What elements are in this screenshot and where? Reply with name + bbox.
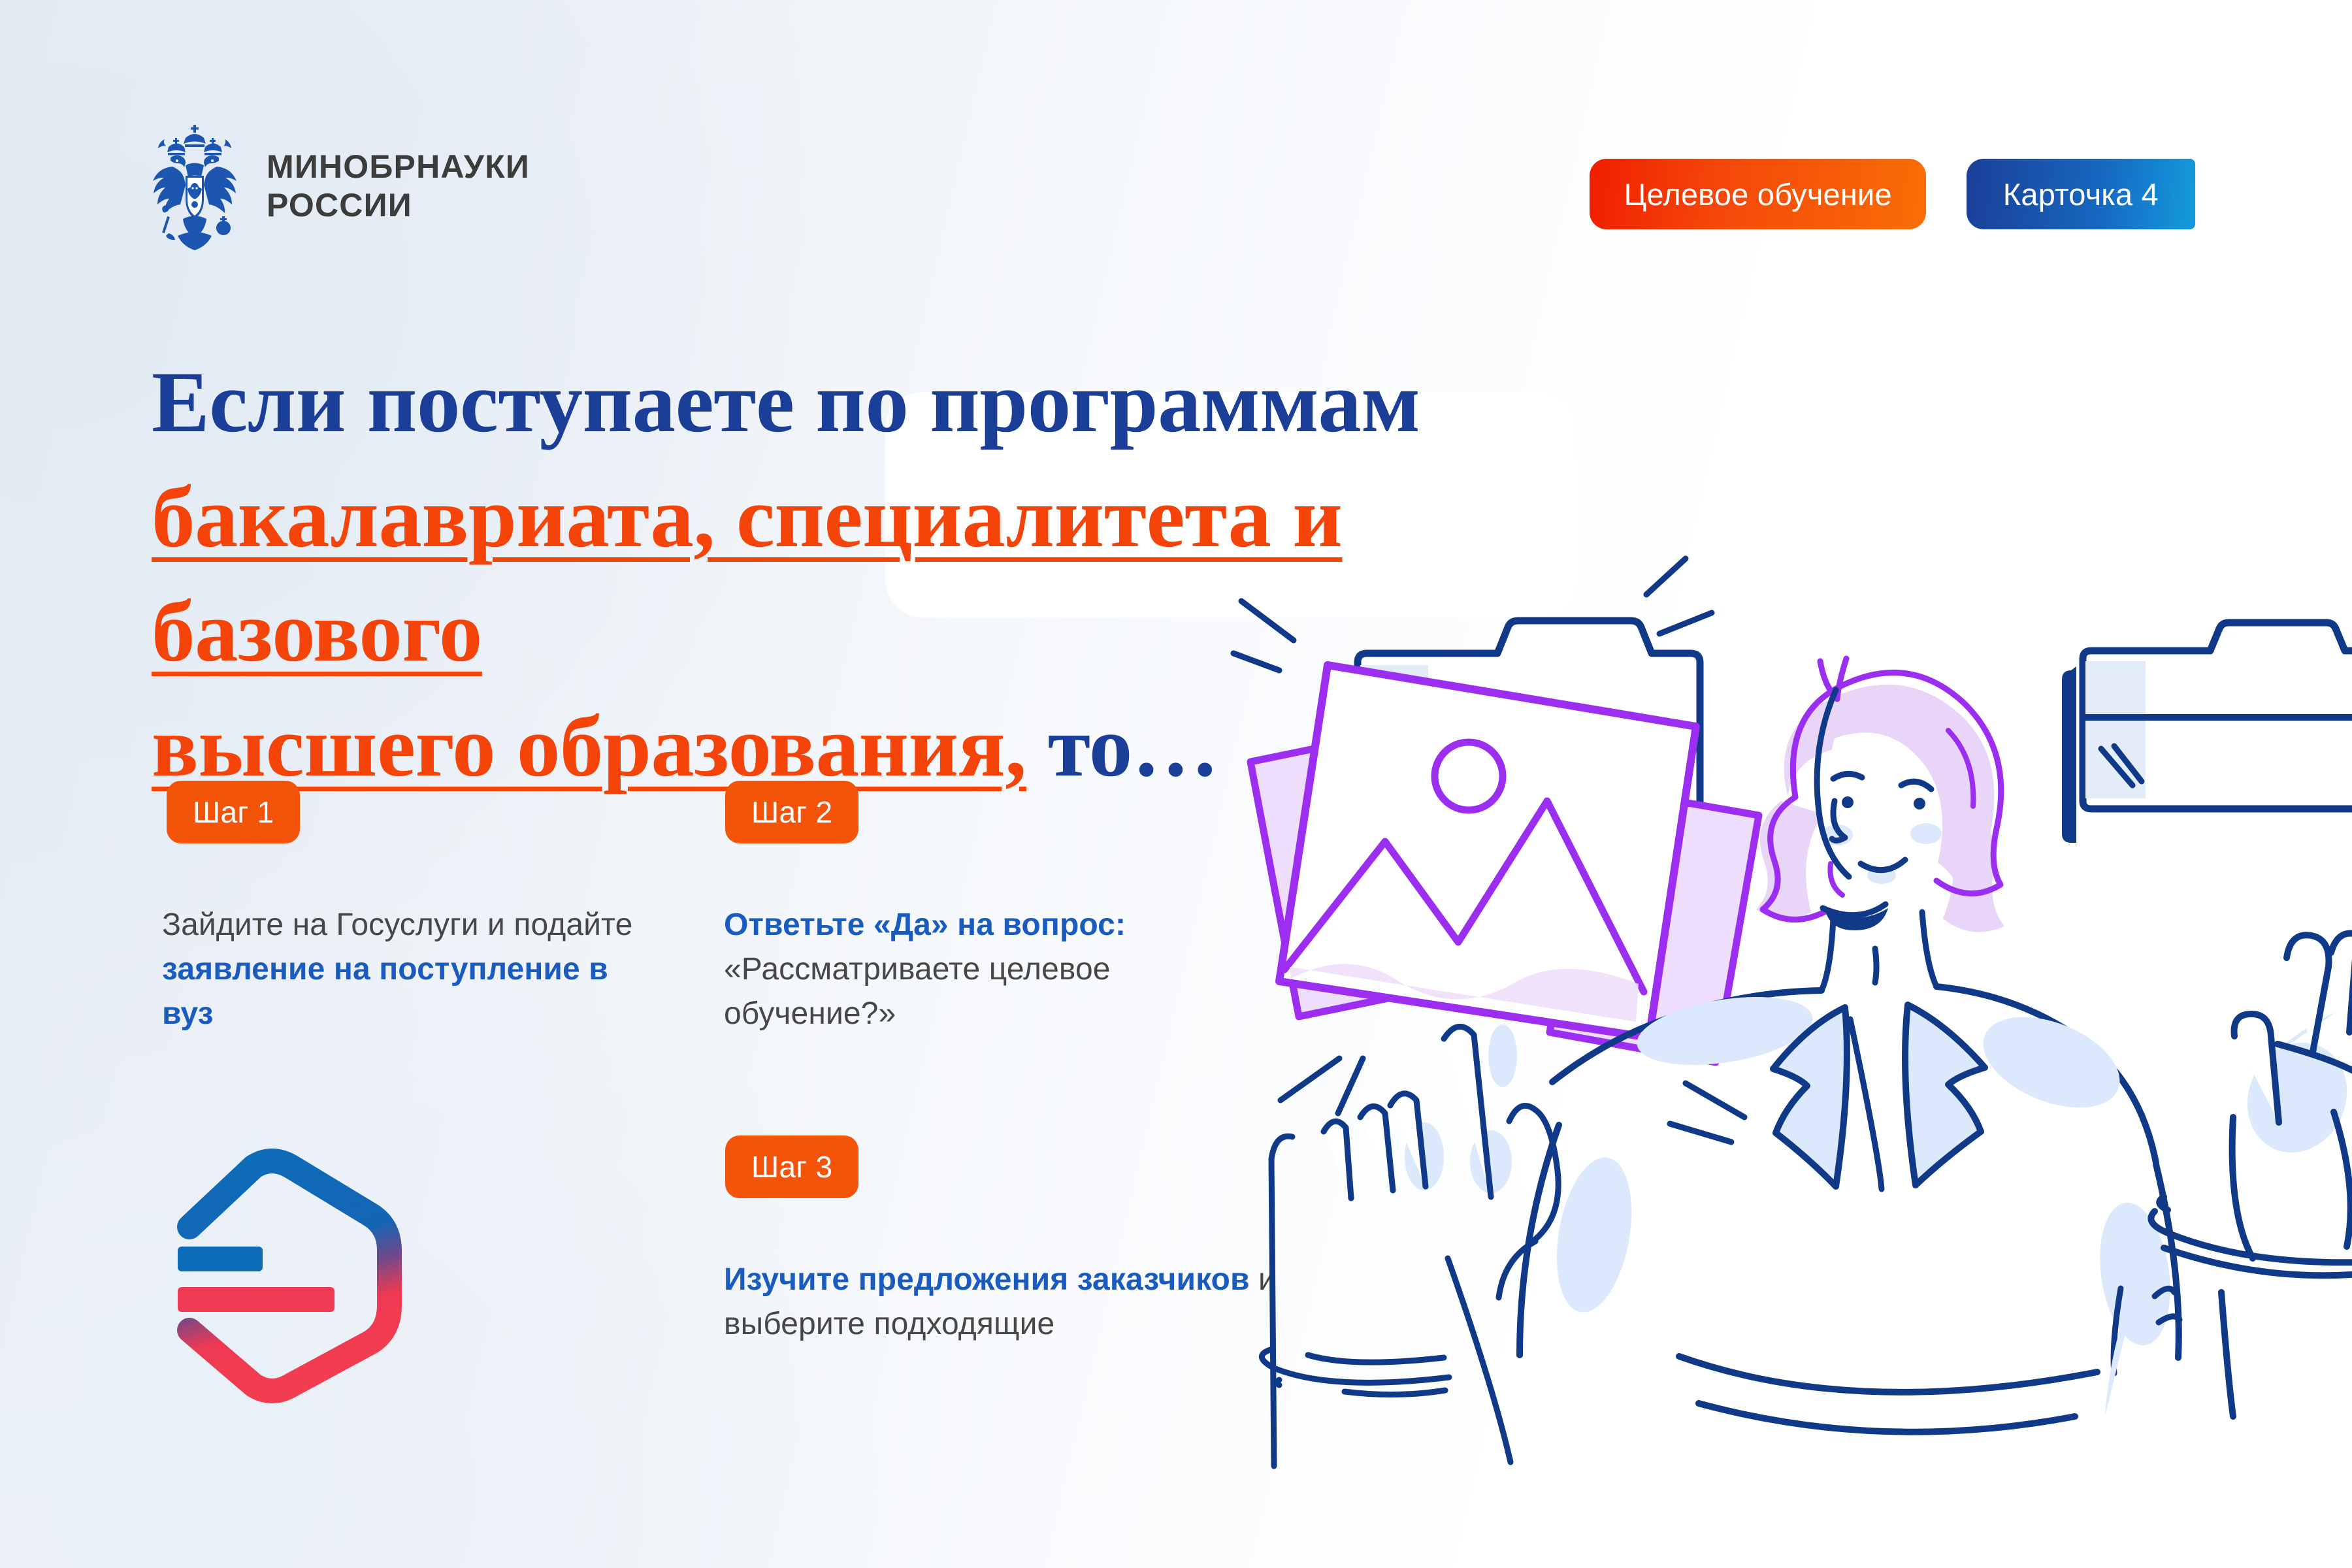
infographic-card: МИНОБРНАУКИ РОССИИ Целевое обучение Карт… — [0, 0, 2352, 1568]
step-3-part-1: Изучите предложения заказчиков — [724, 1262, 1250, 1297]
step-text-1: Зайдите на Госуслуги и подайте заявление… — [162, 903, 645, 1036]
gosuslugi-logo-icon — [155, 1142, 410, 1403]
step-1-part-1: Зайдите на Госуслуги и подайте — [162, 907, 632, 942]
headline-accent-line-2: высшего образования, — [152, 698, 1026, 794]
gosuslugi-bar-long — [178, 1287, 335, 1312]
russian-coat-of-arms-icon — [149, 121, 240, 252]
illustration-woman-pointing — [1228, 542, 2352, 1470]
sparkle-lines-right — [1646, 559, 1712, 634]
headline-tail: то… — [1026, 698, 1218, 794]
gosuslugi-bar-short — [178, 1247, 263, 1271]
folder-icon-secondary — [2062, 623, 2352, 843]
step-text-2: Ответьте «Да» на вопрос: «Рассматриваете… — [724, 903, 1286, 1036]
badge-group: Целевое обучение Карточка 4 — [1590, 159, 2195, 229]
pointing-hand — [1262, 1024, 1558, 1466]
ministry-logo-block: МИНОБРНАУКИ РОССИИ — [149, 121, 530, 252]
photo-card-stack — [1250, 665, 1759, 1062]
badge-card-number[interactable]: Карточка 4 — [1967, 159, 2195, 229]
headline-line-1: Если поступаете по программам — [152, 353, 1420, 450]
step-2-part-1: Ответьте «Да» на вопрос: — [724, 907, 1126, 942]
step-badge-2: Шаг 2 — [725, 781, 858, 843]
step-badge-3: Шаг 3 — [725, 1135, 858, 1198]
headline-accent-line-1: бакалавриата, специалитета и базового — [152, 468, 1342, 680]
step-2-part-2: «Рассматриваете целевое обучение?» — [724, 952, 1111, 1031]
badge-topic[interactable]: Целевое обучение — [1590, 159, 1925, 229]
step-badge-1: Шаг 1 — [167, 781, 300, 843]
step-text-3: Изучите предложения заказчиков и выберит… — [724, 1258, 1286, 1347]
sparkle-lines-left — [1233, 601, 1294, 670]
ministry-name-label: МИНОБРНАУКИ РОССИИ — [267, 148, 530, 225]
step-1-part-2: заявление на поступление в вуз — [162, 952, 608, 1031]
